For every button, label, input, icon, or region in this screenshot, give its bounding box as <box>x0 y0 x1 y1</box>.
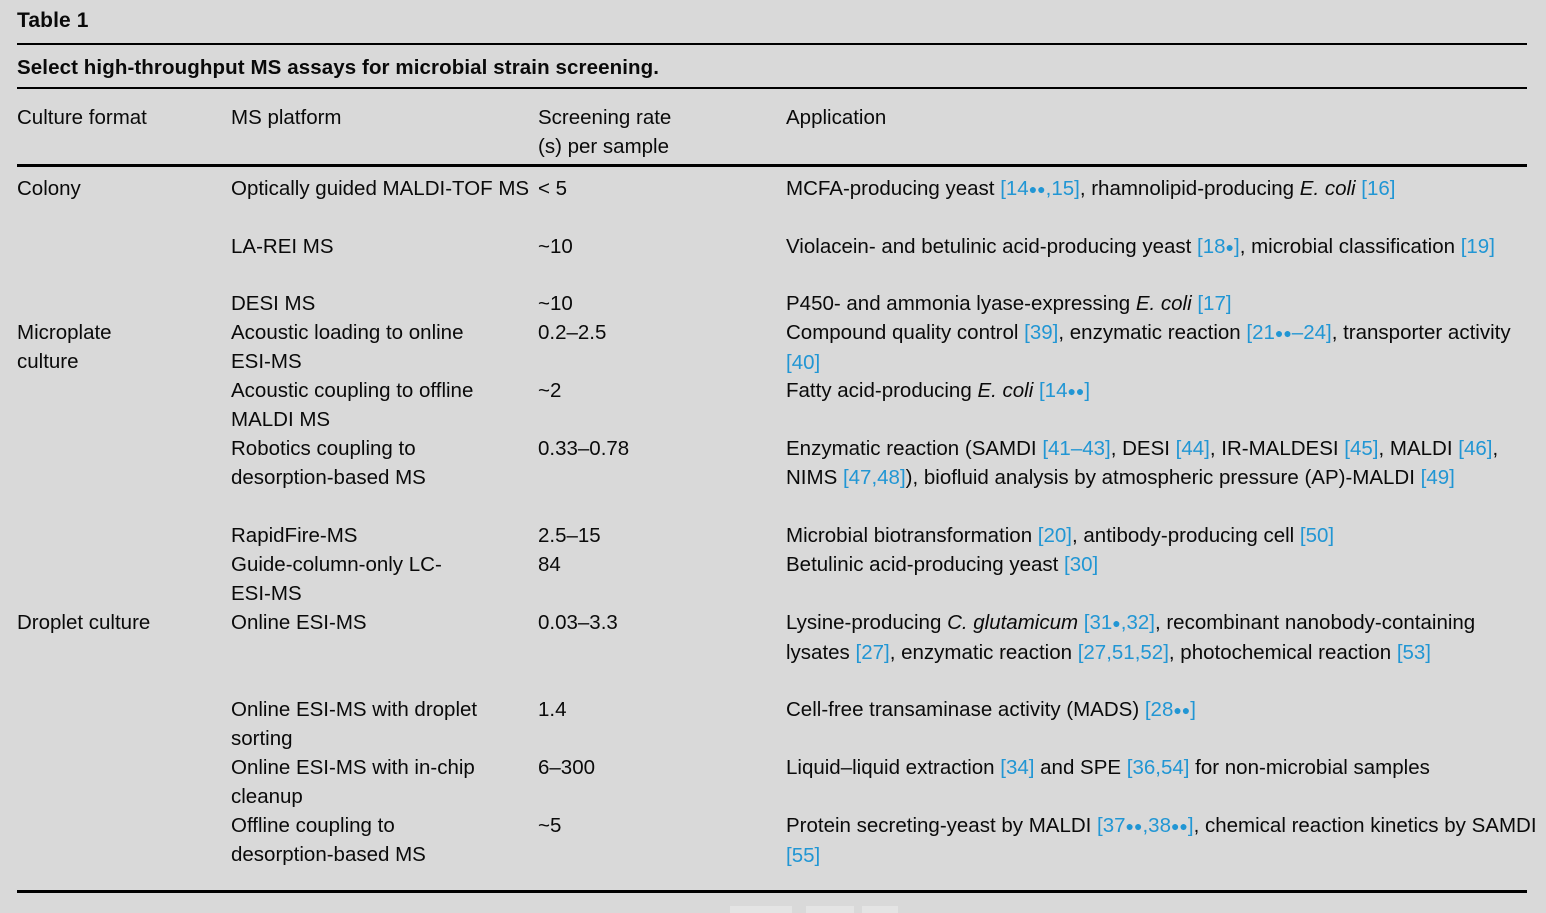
bottom-artifact <box>862 906 898 913</box>
cell-screening-rate: 0.2–2.5 <box>538 318 778 347</box>
cell-application: Violacein- and betulinic acid-producing … <box>786 232 1542 262</box>
cell-culture-format: Droplet culture <box>17 608 229 637</box>
cell-ms-platform: Online ESI-MS with dropletsorting <box>231 695 531 753</box>
column-header-screening-rate: Screening rate (s) per sample <box>538 103 778 161</box>
rule-below-header <box>17 164 1527 167</box>
cell-screening-rate: 84 <box>538 550 778 579</box>
cell-application: Microbial biotransformation [20], antibo… <box>786 521 1542 550</box>
column-header-screening-rate-line1: Screening rate <box>538 106 671 129</box>
cell-application: Protein secreting-yeast by MALDI [37●●,3… <box>786 811 1542 870</box>
cell-application: MCFA-producing yeast [14●●,15], rhamnoli… <box>786 174 1542 204</box>
cell-screening-rate: ~5 <box>538 811 778 840</box>
bottom-artifact <box>806 906 854 913</box>
rule-table-bottom <box>17 890 1527 893</box>
table-label: Table 1 <box>17 9 89 33</box>
table-figure: Table 1 Select high-throughput MS assays… <box>0 0 1546 913</box>
table-header-row: Culture format MS platform Screening rat… <box>0 103 1546 164</box>
table-caption: Select high-throughput MS assays for mic… <box>17 56 659 80</box>
cell-screening-rate: ~2 <box>538 376 778 405</box>
column-header-culture-format: Culture format <box>17 103 229 132</box>
cell-culture-format: Microplateculture <box>17 318 229 376</box>
cell-ms-platform: Guide-column-only LC-ESI-MS <box>231 550 531 608</box>
cell-ms-platform: DESI MS <box>231 289 531 318</box>
cell-application: Liquid–liquid extraction [34] and SPE [3… <box>786 753 1542 782</box>
cell-application: Cell-free transaminase activity (MADS) [… <box>786 695 1542 725</box>
rule-above-caption <box>17 43 1527 45</box>
cell-screening-rate: 6–300 <box>538 753 778 782</box>
cell-application: Enzymatic reaction (SAMDI [41–43], DESI … <box>786 434 1542 492</box>
cell-ms-platform: Acoustic coupling to offlineMALDI MS <box>231 376 531 434</box>
rule-below-caption <box>17 87 1527 89</box>
cell-screening-rate: 0.03–3.3 <box>538 608 778 637</box>
cell-application: Compound quality control [39], enzymatic… <box>786 318 1542 377</box>
cell-application: Lysine-producing C. glutamicum [31●,32],… <box>786 608 1542 667</box>
cell-application: Fatty acid-producing E. coli [14●●] <box>786 376 1542 406</box>
cell-ms-platform: Acoustic loading to onlineESI-MS <box>231 318 531 376</box>
column-header-application: Application <box>786 103 1542 132</box>
cell-ms-platform: Online ESI-MS <box>231 608 531 637</box>
cell-application: Betulinic acid-producing yeast [30] <box>786 550 1542 579</box>
cell-screening-rate: < 5 <box>538 174 778 203</box>
cell-screening-rate: 1.4 <box>538 695 778 724</box>
column-header-screening-rate-line2: (s) per sample <box>538 135 669 158</box>
cell-ms-platform: LA-REI MS <box>231 232 531 261</box>
cell-screening-rate: ~10 <box>538 232 778 261</box>
cell-screening-rate: 2.5–15 <box>538 521 778 550</box>
cell-ms-platform: Online ESI-MS with in-chipcleanup <box>231 753 531 811</box>
cell-ms-platform: RapidFire-MS <box>231 521 531 550</box>
bottom-artifact <box>730 906 792 913</box>
cell-culture-format: Colony <box>17 174 229 203</box>
cell-application: P450- and ammonia lyase-expressing E. co… <box>786 289 1542 318</box>
column-header-ms-platform: MS platform <box>231 103 531 132</box>
cell-screening-rate: ~10 <box>538 289 778 318</box>
cell-ms-platform: Robotics coupling todesorption-based MS <box>231 434 531 492</box>
cell-screening-rate: 0.33–0.78 <box>538 434 778 463</box>
cell-ms-platform: Offline coupling todesorption-based MS <box>231 811 531 869</box>
cell-ms-platform: Optically guided MALDI-TOF MS <box>231 174 531 203</box>
